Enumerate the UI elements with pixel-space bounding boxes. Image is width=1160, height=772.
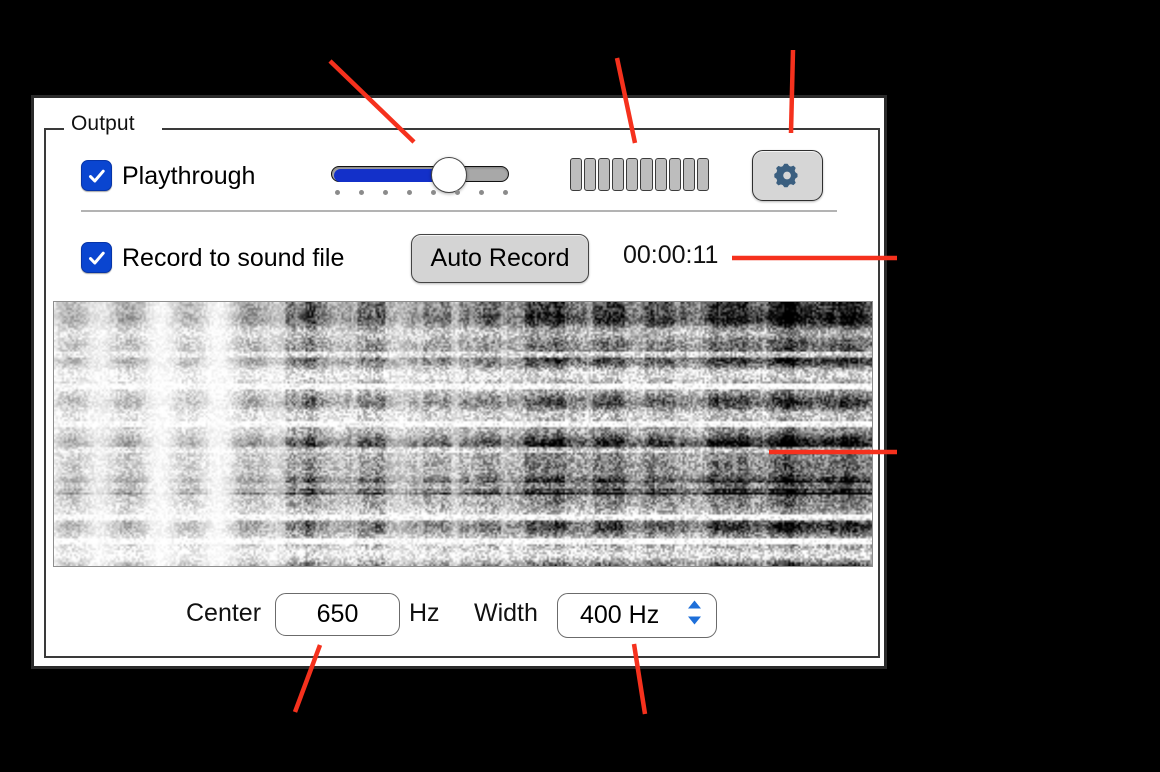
meter-segment xyxy=(626,158,638,191)
meter-segment xyxy=(683,158,695,191)
auto-record-button[interactable]: Auto Record xyxy=(411,234,589,283)
slider-ticks xyxy=(335,190,507,196)
slider-tick xyxy=(455,190,460,195)
meter-segment xyxy=(612,158,624,191)
slider-tick xyxy=(479,190,484,195)
record-timer: 00:00:11 xyxy=(623,241,718,270)
slider-tick xyxy=(503,190,508,195)
meter-segment xyxy=(697,158,709,191)
meter-segment xyxy=(584,158,596,191)
frequency-controls: Center 650 Hz Width 400 Hz xyxy=(34,593,884,643)
record-checkbox[interactable] xyxy=(81,242,112,273)
record-row: Record to sound file Auto Record 00:00:1… xyxy=(34,228,884,288)
groupbox-label: Output xyxy=(65,112,141,136)
width-select[interactable]: 400 Hz xyxy=(557,593,717,638)
section-divider xyxy=(81,210,837,212)
width-label: Width xyxy=(474,599,538,628)
width-value: 400 Hz xyxy=(580,601,659,630)
gear-icon xyxy=(774,162,801,189)
meter-segment xyxy=(598,158,610,191)
output-panel: Output Playthrough xyxy=(31,95,887,669)
slider-tick xyxy=(335,190,340,195)
slider-tick xyxy=(431,190,436,195)
stepper-icon[interactable] xyxy=(686,598,703,633)
checkmark-icon xyxy=(86,165,108,187)
screenshot-root: Output Playthrough xyxy=(0,0,1160,772)
slider-tick xyxy=(407,190,412,195)
slider-tick xyxy=(359,190,364,195)
slider-tick xyxy=(383,190,388,195)
settings-button[interactable] xyxy=(752,150,823,201)
meter-segment xyxy=(655,158,667,191)
meter-segment xyxy=(640,158,652,191)
volume-slider[interactable] xyxy=(331,166,509,182)
playthrough-label: Playthrough xyxy=(122,162,255,191)
checkmark-icon xyxy=(86,247,108,269)
spectrogram-display[interactable] xyxy=(53,301,873,567)
slider-track[interactable] xyxy=(331,166,509,182)
record-label: Record to sound file xyxy=(122,244,344,273)
spectrogram-canvas xyxy=(54,302,872,566)
center-frequency-input[interactable]: 650 xyxy=(275,593,400,636)
level-meter xyxy=(570,158,709,191)
meter-segment xyxy=(669,158,681,191)
playthrough-checkbox[interactable] xyxy=(81,160,112,191)
center-label: Center xyxy=(186,599,261,628)
playthrough-row: Playthrough xyxy=(34,140,884,210)
meter-segment xyxy=(570,158,582,191)
center-unit-label: Hz xyxy=(409,599,440,628)
slider-thumb[interactable] xyxy=(431,157,467,193)
